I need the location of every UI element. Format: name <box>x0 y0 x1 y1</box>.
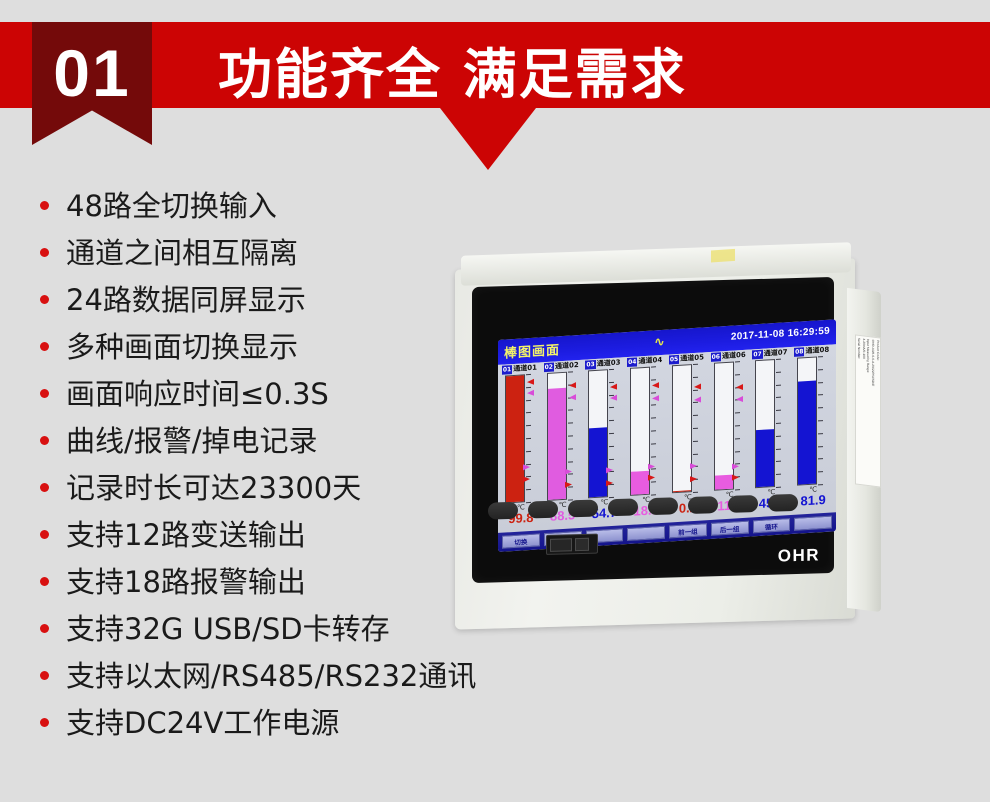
feature-text: 记录时长可达23300天 <box>66 465 361 507</box>
feature-text: 支持32G USB/SD卡转存 <box>66 606 390 648</box>
scale-tick <box>818 356 823 357</box>
alarm-marker-lo-icon <box>690 463 697 469</box>
sd-card-slot-icon <box>550 538 572 552</box>
feature-list-item: 24路数据同屏显示 <box>40 277 476 324</box>
scale-tick <box>651 456 656 457</box>
bar-fill <box>548 387 566 500</box>
alarm-marker-lolo-icon <box>648 475 655 481</box>
section-number-ribbon: 01 <box>32 22 152 145</box>
alarm-marker-lolo-icon <box>690 476 697 482</box>
alarm-marker-hihi-icon <box>652 382 659 388</box>
feature-text: 多种画面切换显示 <box>66 324 298 366</box>
hardware-button[interactable] <box>688 496 718 514</box>
bar-fill <box>631 471 649 495</box>
scale-tick <box>651 481 656 482</box>
feature-text: 支持DC24V工作电源 <box>66 700 339 742</box>
alarm-marker-hi-icon <box>694 396 701 402</box>
scale-tick <box>526 451 531 452</box>
scale-tick <box>693 364 698 365</box>
scale-tick <box>651 405 656 406</box>
bar-track <box>630 367 650 496</box>
scale-tick <box>693 377 698 378</box>
bar-scale <box>735 361 742 489</box>
device-top-sticker <box>711 249 735 263</box>
channel-name: 通道04 <box>638 355 662 365</box>
scale-tick <box>818 394 823 395</box>
scale-tick <box>776 448 781 449</box>
bar-track <box>588 369 608 498</box>
bar-track <box>672 364 692 493</box>
bar-graphic <box>668 363 708 493</box>
scale-tick <box>568 461 573 462</box>
usb-sd-card-slot[interactable] <box>546 534 598 555</box>
scale-tick <box>735 489 740 490</box>
scale-tick <box>735 425 740 426</box>
feature-text: 通道之间相互隔离 <box>66 230 298 272</box>
scale-tick <box>818 420 823 421</box>
scale-tick <box>651 430 656 431</box>
bullet-dot-icon <box>40 342 49 351</box>
scale-tick <box>609 433 614 434</box>
alarm-marker-lolo-icon <box>606 480 613 486</box>
bar-fill <box>715 474 733 490</box>
bar-graphic <box>626 366 666 496</box>
scale-tick <box>776 423 781 424</box>
feature-text: 支持以太网/RS485/RS232通讯 <box>66 653 476 695</box>
usb-port-icon <box>575 537 589 550</box>
scale-tick <box>693 492 698 493</box>
scale-tick <box>651 392 656 393</box>
bar-channel[interactable]: 06通道06℃11.5 <box>710 350 750 520</box>
feature-text: 画面响应时间≤0.3S <box>66 371 329 413</box>
scale-tick <box>568 410 573 411</box>
channel-index: 02 <box>544 362 554 372</box>
hardware-button[interactable] <box>528 501 558 519</box>
bar-graphic <box>793 355 833 485</box>
bullet-dot-icon <box>40 436 49 445</box>
feature-text: 支持18路报警输出 <box>66 559 306 601</box>
lcd-softkey[interactable]: 前一组 <box>669 523 707 538</box>
bar-scale <box>818 356 825 484</box>
device-spec-label: Product Code: OHR-A3/6-0-0-A-2X/22P/U/SD… <box>855 334 881 487</box>
scale-tick <box>609 446 614 447</box>
channel-name: 通道01 <box>513 363 537 373</box>
bullet-dot-icon <box>40 577 49 586</box>
scale-tick <box>693 441 698 442</box>
alarm-marker-hi-icon <box>736 396 743 402</box>
bar-graphic <box>751 358 791 488</box>
scale-tick <box>651 443 656 444</box>
alarm-marker-lo-icon <box>648 463 655 469</box>
bullet-dot-icon <box>40 248 49 257</box>
hardware-button[interactable] <box>568 500 598 518</box>
alarm-marker-lolo-icon <box>523 476 530 482</box>
scale-tick <box>609 369 614 370</box>
channel-index: 05 <box>669 354 679 364</box>
scale-tick <box>735 412 740 413</box>
scale-tick <box>693 453 698 454</box>
scale-tick <box>818 433 823 434</box>
bar-scale <box>776 358 783 486</box>
scale-tick <box>609 407 614 408</box>
hardware-button[interactable] <box>608 498 638 516</box>
feature-list-item: 记录时长可达23300天 <box>40 465 476 512</box>
scale-tick <box>609 420 614 421</box>
scale-tick <box>526 412 531 413</box>
channel-index: 06 <box>711 352 721 362</box>
section-number: 01 <box>53 40 130 106</box>
scale-tick <box>818 446 823 447</box>
page-title: 功能齐全 满足需求 <box>218 30 687 109</box>
bar-fill <box>673 490 691 492</box>
channel-index: 07 <box>752 349 762 359</box>
scale-tick <box>776 371 781 372</box>
alarm-marker-hi-icon <box>569 394 576 400</box>
spec-serial-caption: Serial Number: <box>856 338 861 487</box>
channel-index: 01 <box>502 365 512 375</box>
channel-index: 08 <box>794 347 804 357</box>
bullet-dot-icon <box>40 295 49 304</box>
feature-list: 48路全切换输入通道之间相互隔离24路数据同屏显示多种画面切换显示画面响应时间≤… <box>40 183 476 747</box>
spec-product-code-value: OHR-A3/6-0-0-A-2X/22P/U/SD/E <box>870 339 875 487</box>
scale-tick <box>693 428 698 429</box>
hardware-button[interactable] <box>728 495 758 513</box>
channel-name: 通道05 <box>680 353 704 363</box>
alarm-marker-hihi-icon <box>694 384 701 390</box>
scale-tick <box>776 410 781 411</box>
scale-tick <box>651 417 656 418</box>
feature-list-item: 支持32G USB/SD卡转存 <box>40 606 476 653</box>
alarm-marker-hihi-icon <box>610 384 617 390</box>
feature-list-item: 支持DC24V工作电源 <box>40 700 476 747</box>
bar-track <box>505 374 525 503</box>
brand-logo: OHR <box>778 545 820 566</box>
scale-tick <box>568 423 573 424</box>
hardware-button[interactable] <box>648 497 678 515</box>
spec-product-code-caption: Product Code: <box>875 340 880 488</box>
feature-list-item: 画面响应时间≤0.3S <box>40 371 476 418</box>
scale-tick <box>776 359 781 360</box>
alarm-marker-lo-icon <box>732 463 739 469</box>
alarm-marker-hi-icon <box>610 395 617 401</box>
scale-tick <box>651 366 656 367</box>
alarm-marker-lo-icon <box>565 468 572 474</box>
scale-tick <box>609 458 614 459</box>
bar-track <box>797 356 817 485</box>
scale-tick <box>735 374 740 375</box>
bar-fill <box>589 427 607 497</box>
scale-tick <box>818 484 823 485</box>
channel-index: 03 <box>585 359 595 369</box>
scale-tick <box>526 400 531 401</box>
feature-text: 曲线/报警/掉电记录 <box>66 418 318 460</box>
header-arrow-pointer <box>440 108 536 170</box>
scale-tick <box>651 494 656 495</box>
scale-tick <box>818 369 823 370</box>
channel-index: 04 <box>627 357 637 367</box>
scale-tick <box>776 384 781 385</box>
bullet-dot-icon <box>40 671 49 680</box>
scale-tick <box>568 448 573 449</box>
hardware-button[interactable] <box>488 502 518 520</box>
alarm-marker-hihi-icon <box>569 382 576 388</box>
bar-graphic <box>710 361 750 491</box>
alarm-marker-lolo-icon <box>565 481 572 487</box>
scale-tick <box>735 361 740 362</box>
alarm-marker-hihi-icon <box>527 378 534 384</box>
alarm-marker-hi-icon <box>652 395 659 401</box>
alarm-marker-hi-icon <box>527 390 534 396</box>
scale-tick <box>526 387 531 388</box>
scale-tick <box>776 474 781 475</box>
bullet-dot-icon <box>40 718 49 727</box>
bar-channel[interactable]: 08通道08℃81.9 <box>793 344 833 514</box>
channel-name: 通道02 <box>555 361 579 371</box>
scale-tick <box>776 435 781 436</box>
feature-list-item: 通道之间相互隔离 <box>40 230 476 277</box>
bullet-dot-icon <box>40 389 49 398</box>
scale-tick <box>818 407 823 408</box>
alarm-marker-lo-icon <box>606 467 613 473</box>
channel-name: 通道06 <box>722 350 746 360</box>
scale-tick <box>651 379 656 380</box>
feature-list-item: 多种画面切换显示 <box>40 324 476 371</box>
scale-tick <box>776 461 781 462</box>
bar-fill <box>756 429 774 487</box>
page-root: 01 功能齐全 满足需求 48路全切换输入通道之间相互隔离24路数据同屏显示多种… <box>0 0 990 802</box>
spec-range-value: 4-20mA/0-100 <box>861 338 866 487</box>
bullet-dot-icon <box>40 483 49 492</box>
feature-text: 24路数据同屏显示 <box>66 277 306 319</box>
scale-tick <box>693 415 698 416</box>
scale-tick <box>609 497 614 498</box>
scale-tick <box>818 458 823 459</box>
feature-text: 支持12路变送输出 <box>66 512 306 554</box>
bar-track <box>547 372 567 501</box>
feature-list-item: 支持12路变送输出 <box>40 512 476 559</box>
feature-list-item: 48路全切换输入 <box>40 183 476 230</box>
alarm-marker-lo-icon <box>523 464 530 470</box>
scale-tick <box>735 438 740 439</box>
scale-tick <box>818 382 823 383</box>
scale-tick <box>568 435 573 436</box>
bullet-dot-icon <box>40 530 49 539</box>
alarm-marker-lolo-icon <box>732 475 739 481</box>
lcd-screen-title: 棒图画面 <box>504 339 560 361</box>
scale-tick <box>526 489 531 490</box>
spec-range-caption: Input Measuring Range: <box>866 339 871 488</box>
lcd-softkey[interactable] <box>627 526 665 541</box>
lcd-softkey[interactable]: 切换 <box>502 533 540 548</box>
scale-tick <box>735 451 740 452</box>
bar-track <box>714 362 734 491</box>
alarm-marker-hihi-icon <box>736 384 743 390</box>
scale-tick <box>818 471 823 472</box>
scale-tick <box>526 425 531 426</box>
bar-graphic <box>501 373 541 503</box>
scale-tick <box>776 487 781 488</box>
bullet-dot-icon <box>40 201 49 210</box>
channel-name: 通道07 <box>764 348 788 358</box>
device-bezel: 棒图画面 ∿ 2017-11-08 16:29:59 01通道01℃99.802… <box>472 277 834 583</box>
bullet-dot-icon <box>40 624 49 633</box>
scale-tick <box>568 371 573 372</box>
bar-channel[interactable]: 07通道07℃45.3 <box>751 347 791 517</box>
scale-tick <box>526 374 531 375</box>
channel-name: 通道03 <box>597 358 621 368</box>
bar-fill <box>506 376 524 503</box>
feature-list-item: 支持18路报警输出 <box>40 559 476 606</box>
channel-name: 通道08 <box>805 345 829 355</box>
device-illustration: Product Code: OHR-A3/6-0-0-A-2X/22P/U/SD… <box>455 244 875 624</box>
feature-text: 48路全切换输入 <box>66 183 277 225</box>
bar-track <box>755 359 775 488</box>
lcd-softkey[interactable]: 后一组 <box>711 521 749 536</box>
bar-fill <box>798 380 816 484</box>
feature-list-item: 支持以太网/RS485/RS232通讯 <box>40 653 476 700</box>
scale-tick <box>526 438 531 439</box>
hardware-button[interactable] <box>768 494 798 512</box>
scale-tick <box>776 397 781 398</box>
lcd-datetime: 2017-11-08 16:29:59 <box>731 326 830 343</box>
bar-graphic <box>543 371 583 501</box>
waveform-icon: ∿ <box>654 335 665 351</box>
feature-list-item: 曲线/报警/掉电记录 <box>40 418 476 465</box>
bar-graphic <box>584 368 624 498</box>
